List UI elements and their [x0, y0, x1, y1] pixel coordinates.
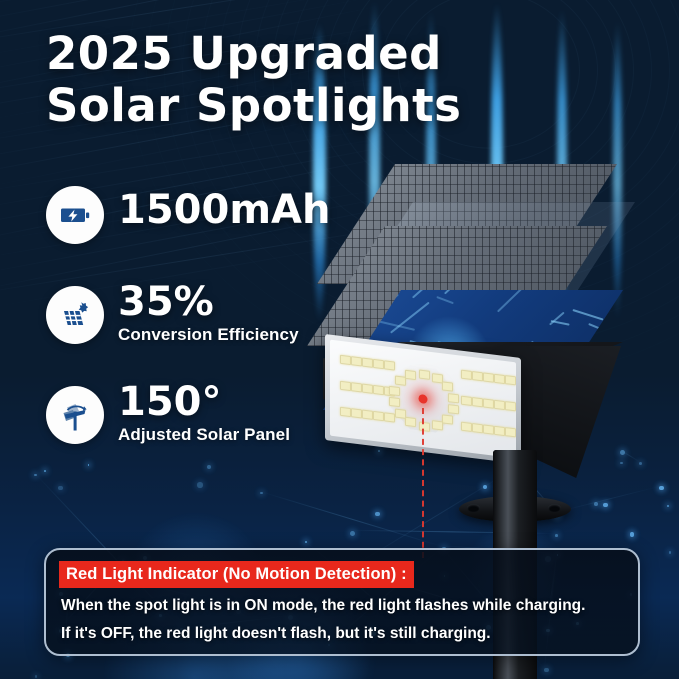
product-marketing-image: 2025 Upgraded Solar Spotlights 1500mAh — [0, 0, 679, 679]
red-indicator-pointer-line — [422, 408, 424, 558]
led-chip — [494, 374, 505, 384]
led-chip — [483, 398, 494, 408]
led-chip — [373, 359, 384, 369]
led-chip — [389, 386, 400, 396]
feature-value: 1500mAh — [118, 188, 330, 232]
led-chip — [384, 412, 395, 422]
led-chip — [483, 424, 494, 434]
red-indicator-led — [419, 394, 428, 404]
led-chip — [362, 384, 373, 394]
led-chip — [419, 369, 430, 379]
particle-dot — [544, 668, 548, 672]
led-chip — [373, 385, 384, 395]
led-chip — [340, 355, 351, 365]
solar-panel-sun-icon — [57, 298, 93, 332]
led-chip — [395, 408, 406, 418]
page-title: 2025 Upgraded Solar Spotlights — [46, 28, 461, 132]
led-chip — [340, 381, 351, 391]
feature-icon-circle — [46, 186, 104, 244]
led-chip — [340, 407, 351, 417]
led-chip — [362, 358, 373, 368]
battery-charging-icon — [58, 198, 92, 232]
led-chip — [389, 397, 400, 407]
led-chip — [373, 411, 384, 421]
flange-screw-hole — [467, 504, 480, 512]
particle-dot — [44, 470, 46, 472]
led-chip — [405, 370, 416, 380]
feature-icon-circle — [46, 386, 104, 444]
led-chip — [351, 408, 362, 418]
callout-title-badge: Red Light Indicator (No Motion Detection… — [59, 561, 414, 588]
led-chip — [472, 371, 483, 381]
feature-text: 150° Adjusted Solar Panel — [118, 380, 290, 445]
led-chip — [395, 376, 406, 386]
led-chip — [505, 401, 516, 411]
led-chip — [419, 421, 430, 431]
feature-icon-circle — [46, 286, 104, 344]
led-chip — [505, 375, 516, 385]
led-chip — [472, 423, 483, 433]
led-chip — [432, 420, 443, 430]
adjustable-solar-panel-icon — [57, 397, 93, 433]
particle-dot — [207, 465, 211, 469]
flange-screw-hole — [548, 504, 561, 512]
led-chip — [442, 414, 453, 424]
led-chip — [472, 397, 483, 407]
led-chip — [461, 422, 472, 432]
led-chip — [494, 426, 505, 436]
led-chip — [442, 382, 453, 392]
particle-dot — [197, 482, 202, 487]
callout-line-1: When the spot light is in ON mode, the r… — [61, 596, 585, 616]
feature-caption: Adjusted Solar Panel — [118, 425, 290, 445]
led-chip — [351, 356, 362, 366]
feature-caption: Conversion Efficiency — [118, 325, 299, 345]
led-chip — [461, 396, 472, 406]
headline-line-1: 2025 Upgraded — [46, 27, 442, 80]
led-chip — [384, 360, 395, 370]
particle-dot — [58, 486, 63, 491]
headline-line-2: Solar Spotlights — [46, 80, 461, 132]
particle-dot — [35, 675, 38, 678]
led-chip — [505, 427, 516, 437]
led-chip — [432, 373, 443, 383]
callout-line-2: If it's OFF, the red light doesn't flash… — [61, 624, 491, 644]
callout-box: Red Light Indicator (No Motion Detection… — [44, 548, 640, 656]
led-chip — [494, 400, 505, 410]
led-chip — [483, 372, 494, 382]
feature-text: 35% Conversion Efficiency — [118, 280, 299, 345]
feature-value: 150° — [118, 380, 290, 424]
particle-dot — [88, 464, 90, 466]
led-chip — [448, 404, 459, 414]
product-illustration — [295, 150, 679, 570]
feature-value: 35% — [118, 280, 299, 324]
led-chip — [351, 382, 362, 392]
led-chip — [461, 370, 472, 380]
feature-text: 1500mAh — [118, 188, 330, 232]
led-chip — [448, 393, 459, 403]
led-chip — [362, 410, 373, 420]
led-chip — [405, 417, 416, 427]
